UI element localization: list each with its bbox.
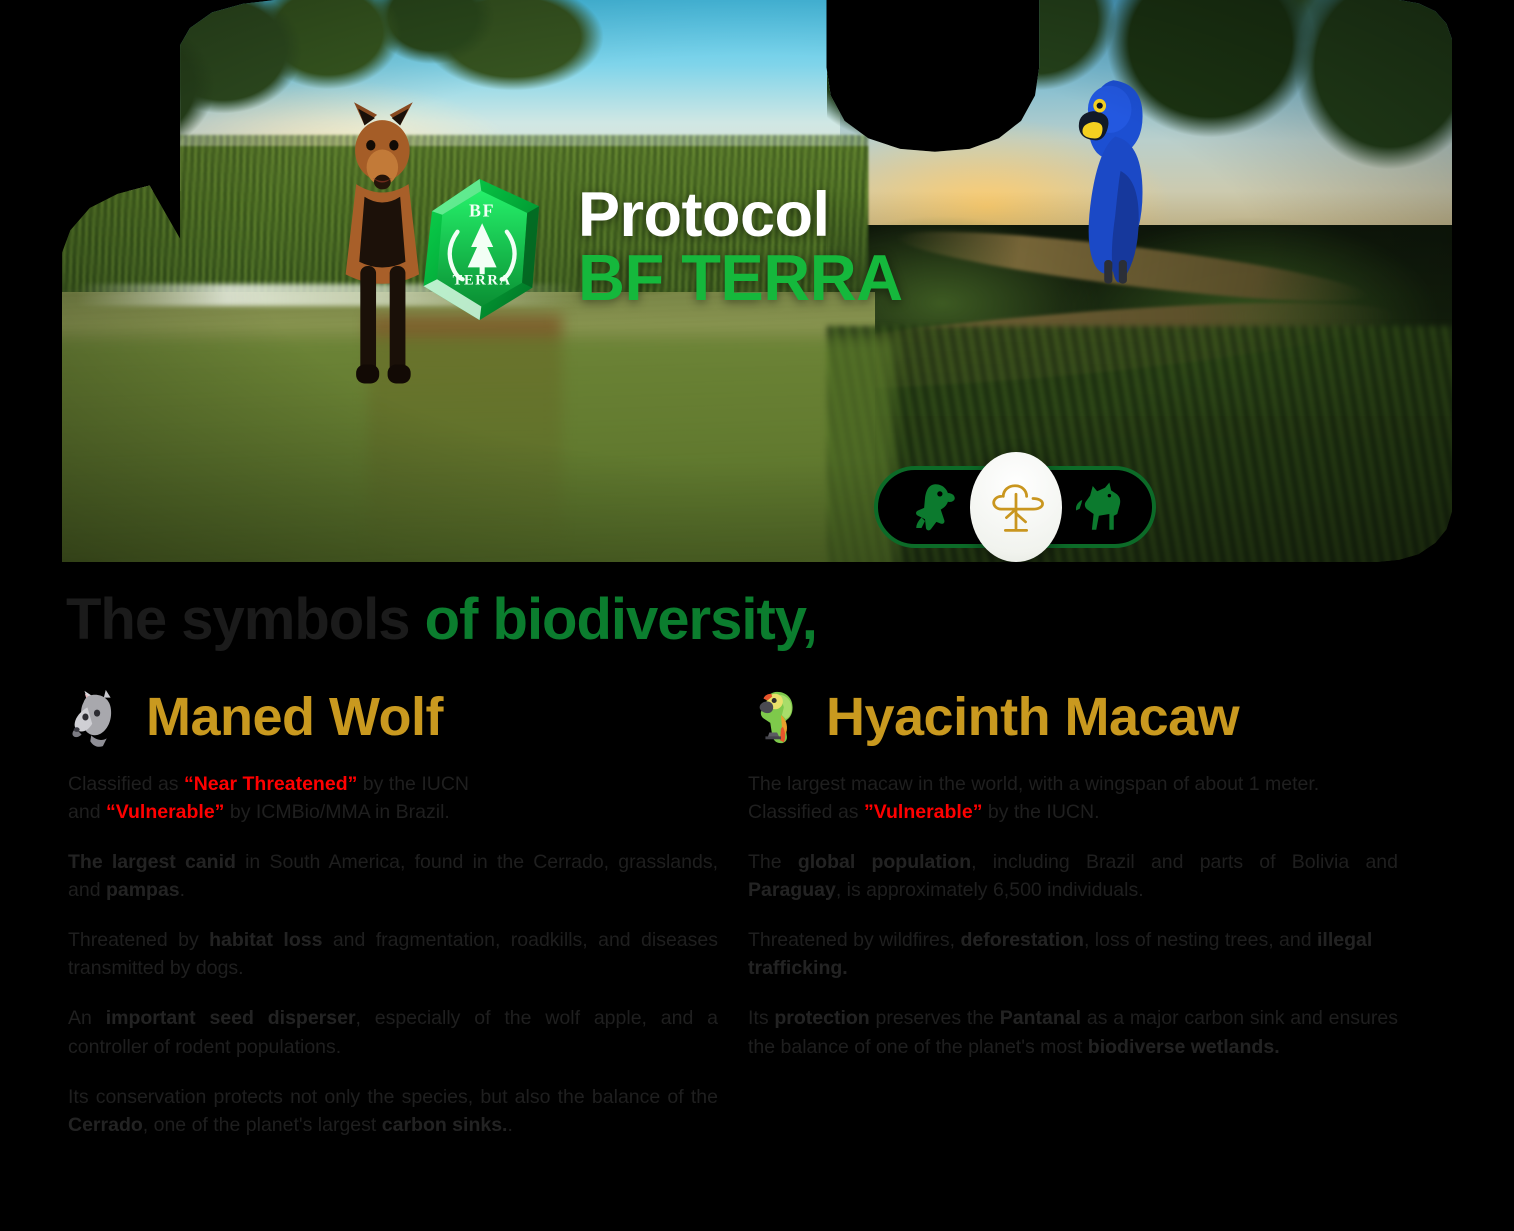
page-title-part2: of biodiversity,	[425, 587, 817, 652]
poster-root: BF TERRA Protocol BF TERRA	[0, 0, 1514, 1231]
species-description-list: Classified as “Near Threatened” by the I…	[68, 770, 718, 1139]
brand-lockup: BF TERRA Protocol BF TERRA	[398, 162, 903, 332]
wolf-icon	[1070, 479, 1126, 535]
brand-wordmark: Protocol BF TERRA	[578, 185, 903, 309]
page-title: The symbols of biodiversity,	[66, 586, 817, 653]
species-column-hyacinth-macaw: Hyacinth Macaw The largest macaw in the …	[748, 686, 1398, 1083]
wolf-face-emoji-icon	[68, 686, 130, 748]
hero-banner: BF TERRA Protocol BF TERRA	[62, 0, 1452, 562]
species-description-list: The largest macaw in the world, with a w…	[748, 770, 1398, 1061]
bf-terra-gem-logo-icon: BF TERRA	[398, 162, 568, 332]
description-paragraph: The global population, including Brazil …	[748, 848, 1398, 904]
tree-badge[interactable]	[970, 452, 1062, 562]
description-paragraph: The largest macaw in the world, with a w…	[748, 770, 1398, 826]
description-paragraph: An important seed disperser, especially …	[68, 1004, 718, 1060]
description-paragraph: Its protection preserves the Pantanal as…	[748, 1004, 1398, 1060]
svg-text:TERRA: TERRA	[453, 272, 512, 288]
description-paragraph: Classified as “Near Threatened” by the I…	[68, 770, 718, 826]
species-title: Hyacinth Macaw	[826, 686, 1239, 748]
macaw-icon	[904, 479, 960, 535]
brand-name-line1: Protocol	[578, 185, 903, 246]
tree-icon	[982, 473, 1050, 541]
svg-text:BF: BF	[469, 200, 495, 220]
description-paragraph: Its conservation protects not only the s…	[68, 1083, 718, 1139]
species-column-maned-wolf: Maned Wolf Classified as “Near Threatene…	[68, 686, 718, 1161]
brand-name-line2: BF TERRA	[578, 246, 903, 309]
parrot-emoji-icon	[748, 686, 810, 748]
description-paragraph: Threatened by wildfires, deforestation, …	[748, 926, 1398, 982]
species-title: Maned Wolf	[146, 686, 443, 748]
species-heading: Maned Wolf	[68, 686, 718, 748]
species-heading: Hyacinth Macaw	[748, 686, 1398, 748]
description-paragraph: Threatened by habitat loss and fragmenta…	[68, 926, 718, 982]
description-paragraph: The largest canid in South America, foun…	[68, 848, 718, 904]
page-title-part1: The symbols	[66, 587, 425, 652]
